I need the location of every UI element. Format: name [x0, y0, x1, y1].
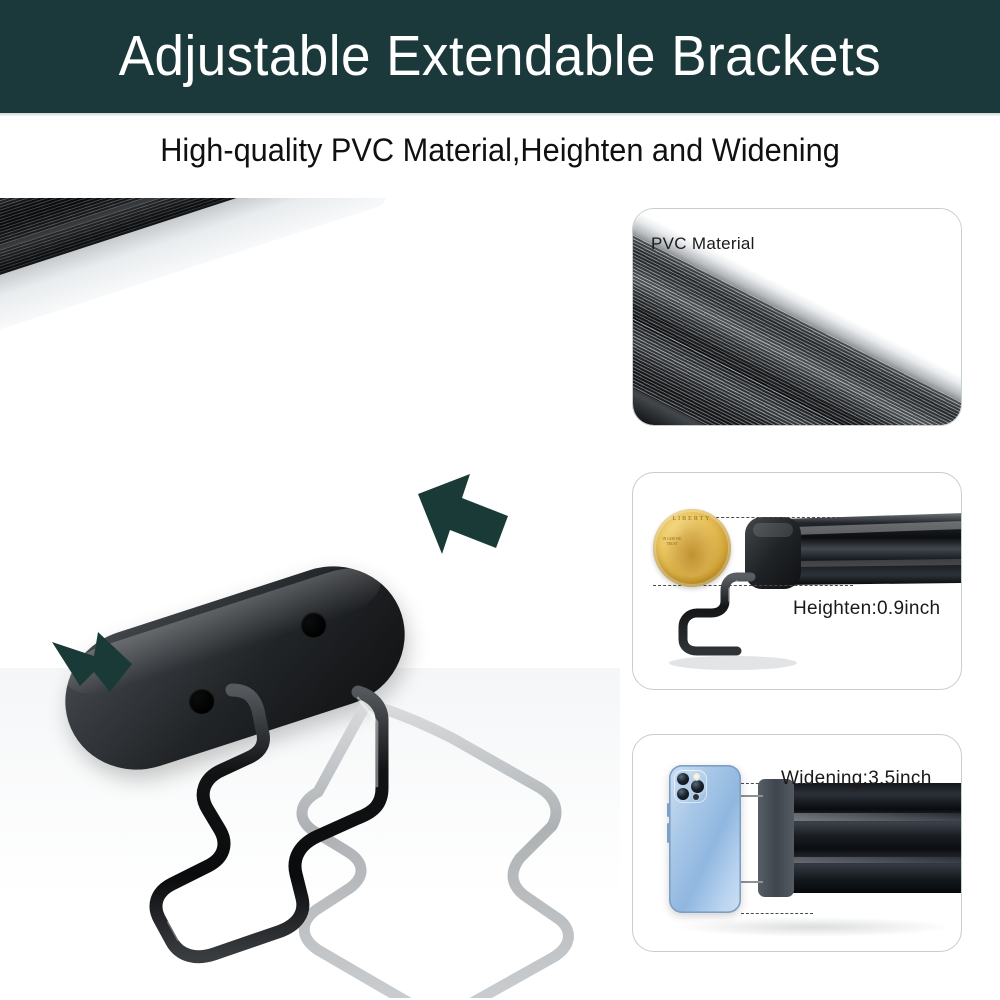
- phone-volume-button-2: [667, 823, 670, 843]
- coin-portrait: [664, 519, 720, 577]
- reference-coin: LIBERTY IN GOD WE TRUST: [653, 509, 731, 587]
- reference-phone: [669, 765, 741, 913]
- panel-pvc-material: PVC Material: [632, 208, 962, 426]
- banner-underline: [0, 113, 1000, 116]
- coin-liberty-text: LIBERTY: [653, 516, 731, 522]
- arrow-extend-outward-icon: [52, 632, 132, 692]
- header-banner: Adjustable Extendable Brackets: [0, 0, 1000, 113]
- phone-flash-icon: [693, 773, 700, 780]
- measure-line-top: [711, 517, 921, 518]
- rail-end-cap-wide: [758, 779, 794, 897]
- rail-highlight-lower: [781, 857, 962, 863]
- panel-widening: Widening:3.5inch: [632, 734, 962, 952]
- direction-arrows: [0, 198, 620, 998]
- panel-heighten: LIBERTY IN GOD WE TRUST: [632, 472, 962, 690]
- page-title: Adjustable Extendable Brackets: [119, 28, 881, 85]
- measure-line-bottom-3: [741, 913, 813, 914]
- rail-highlight-upper: [781, 813, 962, 821]
- phone-lens-3: [691, 780, 704, 793]
- phone-lens-2: [677, 788, 689, 800]
- subtitle: High-quality PVC Material,Heighten and W…: [20, 131, 980, 169]
- phone-lens-1: [677, 773, 689, 785]
- panel3-ground-shadow: [673, 917, 953, 937]
- phone-camera-module: [674, 770, 707, 803]
- arrow-extend-inward-icon: [418, 474, 508, 554]
- coin-motto-text: IN GOD WE TRUST: [659, 537, 685, 547]
- panel-label-heighten: Heighten:0.9inch: [793, 599, 940, 618]
- panel-label-pvc-material: PVC Material: [651, 235, 755, 252]
- hero-product-scene: [0, 198, 620, 998]
- product-infographic: Adjustable Extendable Brackets High-qual…: [0, 0, 1000, 1000]
- rail-body-wide: [781, 783, 962, 893]
- phone-lidar-icon: [693, 794, 699, 800]
- panel-label-widening: Widening:3.5inch: [781, 769, 932, 788]
- phone-volume-button: [667, 803, 670, 817]
